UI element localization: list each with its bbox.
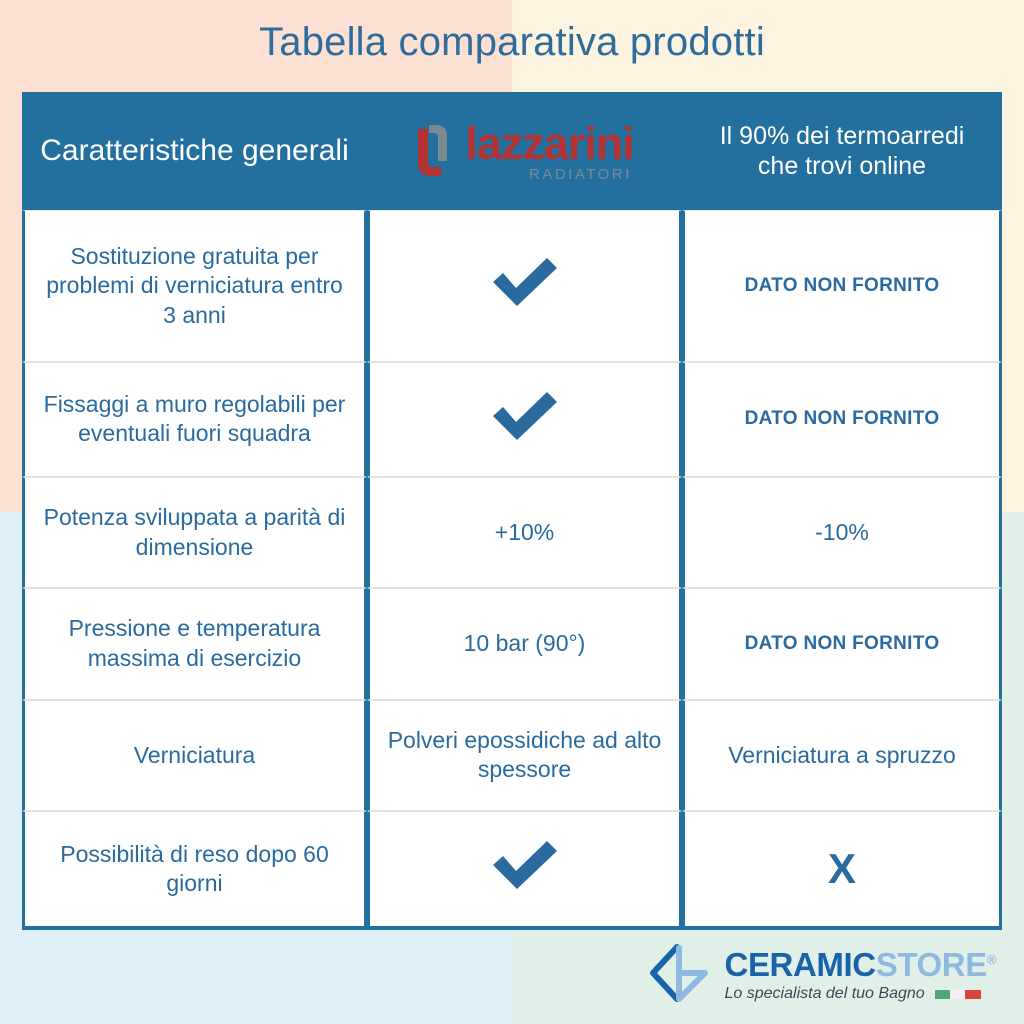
competitor-value: DATO NON FORNITO xyxy=(682,210,1002,362)
feature-label: Pressione e temperatura massima di eserc… xyxy=(22,588,367,699)
column-header-features: Caratteristiche generali xyxy=(22,92,367,210)
ceramicstore-tagline: Lo specialista del tuo Bagno xyxy=(725,985,925,1003)
cross-icon: X xyxy=(828,848,856,890)
lazzarini-value: 10 bar (90°) xyxy=(367,588,682,699)
comparison-table: Caratteristiche generali lazzarini RADIA… xyxy=(22,92,1002,930)
feature-label: Verniciatura xyxy=(22,700,367,811)
feature-label: Fissaggi a muro regolabili per eventuali… xyxy=(22,362,367,477)
check-icon xyxy=(488,838,562,892)
table-row: Sostituzione gratuita per problemi di ve… xyxy=(22,210,1002,362)
table-header: Caratteristiche generali lazzarini RADIA… xyxy=(22,92,1002,210)
ceramicstore-name: CERAMICSTORE® xyxy=(725,948,996,981)
column-header-lazzarini: lazzarini RADIATORI xyxy=(367,92,682,210)
competitor-value: X xyxy=(682,811,1002,930)
lazzarini-brand-name: lazzarini xyxy=(465,123,634,166)
lazzarini-value xyxy=(367,811,682,930)
table-row: Verniciatura Polveri epossidiche ad alto… xyxy=(22,700,1002,811)
table-row: Fissaggi a muro regolabili per eventuali… xyxy=(22,362,1002,477)
registered-trademark-icon: ® xyxy=(987,952,996,967)
table-row: Possibilità di reso dopo 60 giorni X xyxy=(22,811,1002,930)
feature-label: Sostituzione gratuita per problemi di ve… xyxy=(22,210,367,362)
check-icon xyxy=(488,389,562,443)
check-icon xyxy=(488,255,562,309)
competitor-value: DATO NON FORNITO xyxy=(682,588,1002,699)
tagline-row: Lo specialista del tuo Bagno xyxy=(725,985,996,1003)
page-title: Tabella comparativa prodotti xyxy=(0,20,1024,65)
lazzarini-value: Polveri epossidiche ad alto spessore xyxy=(367,700,682,811)
lazzarini-value: +10% xyxy=(367,477,682,588)
table-row: Pressione e temperatura massima di eserc… xyxy=(22,588,1002,699)
table-body: Sostituzione gratuita per problemi di ve… xyxy=(22,210,1002,930)
italian-flag-icon xyxy=(935,990,981,999)
table-row: Potenza sviluppata a parità di dimension… xyxy=(22,477,1002,588)
ceramicstore-chevron-icon xyxy=(647,943,711,1008)
lazzarini-wordmark: lazzarini RADIATORI xyxy=(465,123,634,184)
lazzarini-value xyxy=(367,362,682,477)
ceramicstore-name-secondary: STORE xyxy=(876,946,987,983)
lazzarini-brand-subtitle: RADIATORI xyxy=(529,166,632,183)
table-header-row: Caratteristiche generali lazzarini RADIA… xyxy=(22,92,1002,210)
feature-label: Potenza sviluppata a parità di dimension… xyxy=(22,477,367,588)
competitor-value: Verniciatura a spruzzo xyxy=(682,700,1002,811)
feature-label: Possibilità di reso dopo 60 giorni xyxy=(22,811,367,930)
comparison-table-container: Caratteristiche generali lazzarini RADIA… xyxy=(22,92,1002,930)
lazzarini-monogram-icon xyxy=(415,121,455,186)
lazzarini-value xyxy=(367,210,682,362)
footer-branding: CERAMICSTORE® Lo specialista del tuo Bag… xyxy=(647,943,996,1008)
competitor-value: -10% xyxy=(682,477,1002,588)
competitor-value: DATO NON FORNITO xyxy=(682,362,1002,477)
ceramicstore-name-primary: CERAMIC xyxy=(725,946,876,983)
lazzarini-logo: lazzarini RADIATORI xyxy=(382,101,667,201)
column-header-competitor: Il 90% dei termoarredi che trovi online xyxy=(682,92,1002,210)
ceramicstore-wordmark: CERAMICSTORE® Lo specialista del tuo Bag… xyxy=(725,948,996,1003)
